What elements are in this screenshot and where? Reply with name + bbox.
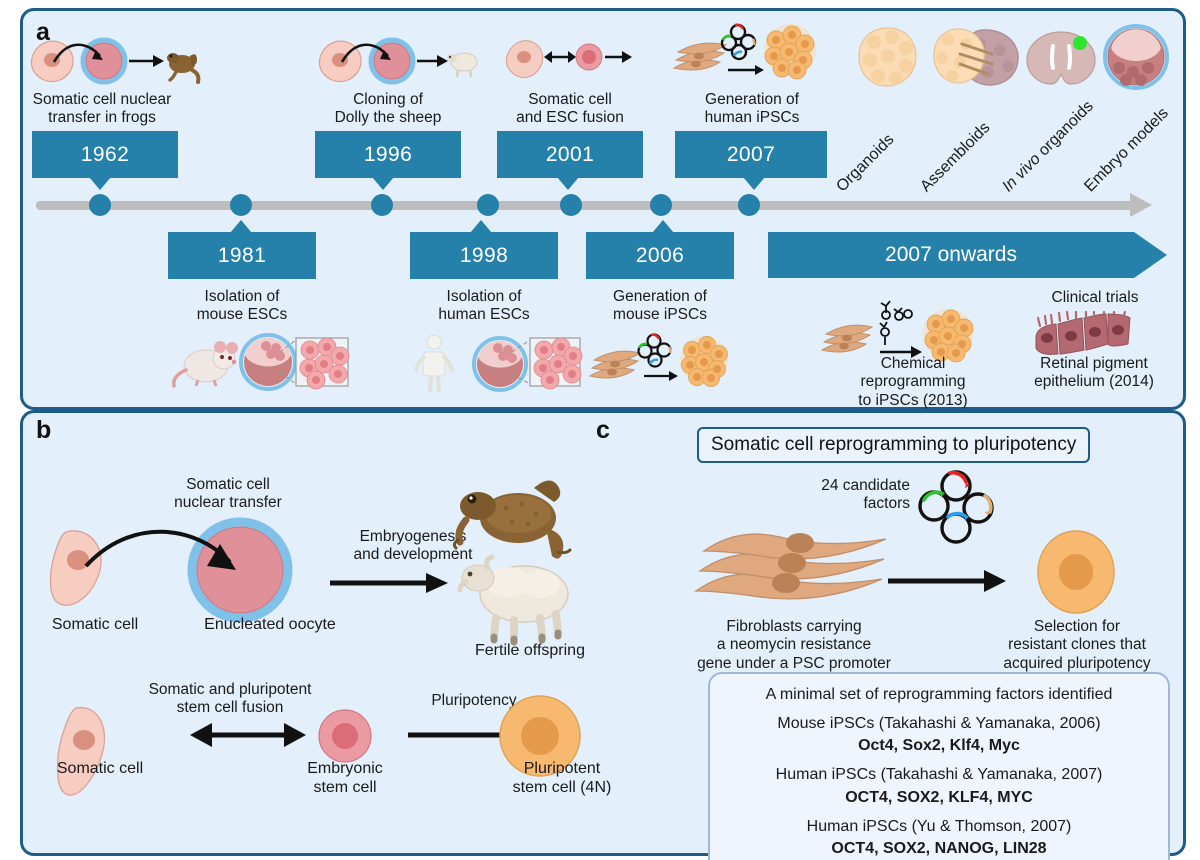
year-pointer (230, 220, 252, 233)
illustration-cell-fusion (505, 28, 635, 86)
year-pointer (89, 177, 111, 190)
illustration-somatic-cell-b2 (48, 700, 168, 810)
entry-source-0: Mouse iPSCs (Takahashi & Yamanaka, 2006) (724, 713, 1154, 736)
illustration-organoid (856, 26, 920, 88)
illustration-sheep-offspring (448, 552, 588, 642)
timeline-dot-1962[interactable] (89, 194, 111, 216)
illustration-mouse-esc (172, 326, 338, 398)
caption-2001: Somatic cell and ESC fusion (486, 91, 654, 128)
arrow-reprogramming (888, 566, 1008, 596)
timeline-dot-2007[interactable] (738, 194, 760, 216)
year-box-2007[interactable]: 2007 (675, 131, 827, 178)
caption-1962: Somatic cell nuclear transfer in frogs (6, 91, 198, 128)
caption-1981: Isolation of mouse ESCs (162, 288, 322, 325)
year-box-1981[interactable]: 1981 (168, 232, 316, 279)
band-2007-onwards[interactable]: 2007 onwards (768, 232, 1134, 278)
year-pointer (652, 220, 674, 233)
year-box-1998[interactable]: 1998 (410, 232, 558, 279)
timeline-dot-1996[interactable] (371, 194, 393, 216)
caption-chemical-reprogramming: Chemical reprogramming to iPSCs (2013) (830, 355, 996, 410)
illustration-human-esc (412, 326, 578, 398)
minimal-set-heading: A minimal set of reprogramming factors i… (724, 684, 1154, 707)
timeline-axis (36, 201, 1134, 210)
caption-rpe: Retinal pigment epithelium (2014) (1004, 355, 1184, 392)
label-somatic-cell-b2: Somatic cell (30, 760, 170, 779)
panel-c-label: c (596, 418, 610, 443)
year-box-1962[interactable]: 1962 (32, 131, 178, 178)
caption-2007: Generation of human iPSCs (664, 91, 840, 128)
illustration-assembloid (930, 26, 1026, 88)
illustration-scnt-transfer (44, 518, 344, 614)
illustration-fibroblasts (694, 525, 884, 610)
arrow-embryogenesis (330, 570, 450, 596)
label-scnt: Somatic cell nuclear transfer (122, 476, 334, 513)
illustration-plasmid-cluster (916, 470, 996, 550)
illustration-scnt-frog (26, 28, 196, 88)
entry-source-1: Human iPSCs (Takahashi & Yamanaka, 2007) (724, 764, 1154, 787)
illustration-mouse-ipsc (588, 330, 738, 396)
label-24-candidate-factors: 24 candidate factors (770, 477, 910, 514)
entry-source-2: Human iPSCs (Yu & Thomson, 2007) (724, 816, 1154, 839)
illustration-embryonic-stem-cell (314, 706, 376, 766)
timeline-dot-1998[interactable] (477, 194, 499, 216)
caption-fibroblasts: Fibroblasts carrying a neomycin resistan… (672, 618, 916, 673)
timeline-arrowhead (1130, 193, 1152, 217)
panel-b-label: b (36, 418, 51, 443)
caption-1996: Cloning of Dolly the sheep (300, 91, 476, 128)
label-fertile-offspring: Fertile offspring (440, 642, 620, 661)
arrow-fusion-double (186, 720, 310, 750)
year-box-2001[interactable]: 2001 (497, 131, 643, 178)
figure-root: a (0, 0, 1200, 860)
label-pluripotent-stem-cell: Pluripotent stem cell (4N) (472, 760, 652, 798)
year-pointer (372, 177, 394, 190)
band-arrowhead (1134, 232, 1167, 278)
entry-factors-2: OCT4, SOX2, NANOG, LIN28 (724, 838, 1154, 860)
label-embryonic-stem-cell: Embryonic stem cell (282, 760, 408, 798)
timeline-dot-2006[interactable] (650, 194, 672, 216)
year-pointer (743, 177, 765, 190)
minimal-factor-set-box: A minimal set of reprogramming factors i… (708, 672, 1170, 860)
illustration-embryo-model (1103, 24, 1169, 90)
illustration-cloning-sheep (314, 28, 474, 88)
caption-selection: Selection for resistant clones that acqu… (964, 618, 1190, 673)
panel-c-title: Somatic cell reprogramming to pluripoten… (697, 427, 1090, 463)
label-enucleated-oocyte: Enucleated oocyte (170, 616, 370, 635)
caption-clinical-trials: Clinical trials (1010, 289, 1180, 307)
entry-factors-0: Oct4, Sox2, Klf4, Myc (724, 735, 1154, 758)
illustration-frog-offspring (452, 470, 582, 560)
year-box-2006[interactable]: 2006 (586, 232, 734, 279)
timeline-dot-2001[interactable] (560, 194, 582, 216)
illustration-selected-clone (1028, 530, 1128, 616)
label-somatic-cell-b1: Somatic cell (30, 616, 160, 635)
caption-1998: Isolation of human ESCs (404, 288, 564, 325)
year-box-1996[interactable]: 1996 (315, 131, 461, 178)
illustration-in-vivo-organoid (1025, 30, 1097, 86)
timeline-dot-1981[interactable] (230, 194, 252, 216)
entry-factors-1: OCT4, SOX2, KLF4, MYC (724, 787, 1154, 810)
illustration-human-ipsc (672, 20, 822, 90)
year-pointer (470, 220, 492, 233)
caption-2006: Generation of mouse iPSCs (580, 288, 740, 325)
year-pointer (557, 177, 579, 190)
